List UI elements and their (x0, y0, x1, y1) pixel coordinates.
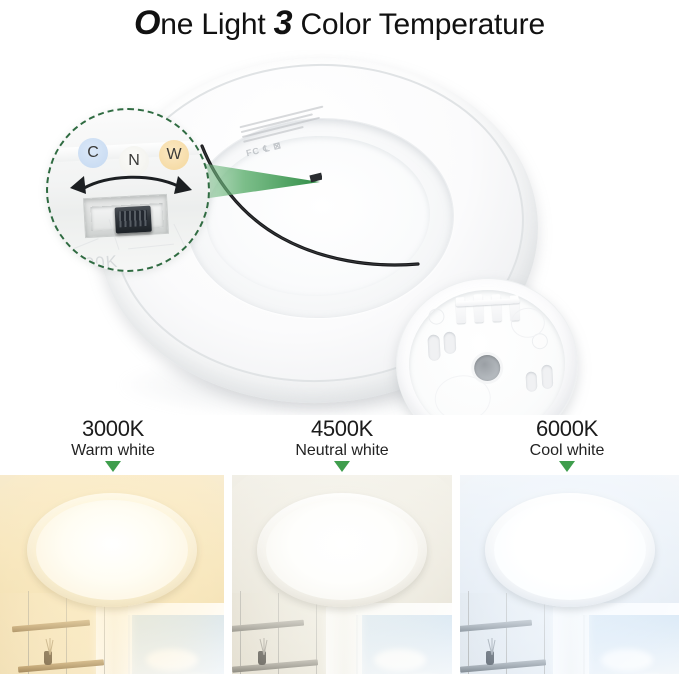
kelvin-value-4500k: 4500K (252, 416, 432, 441)
magnifier-callout: C N W (46, 108, 210, 272)
room-photo-strip (0, 475, 679, 674)
bracket-keyhole-slot (443, 332, 456, 355)
bracket-inner-face (405, 286, 569, 415)
kelvin-value-6000k: 6000K (477, 416, 657, 441)
cct-selector-switch-track (90, 203, 163, 231)
cct-dot-n-label: N (128, 152, 140, 170)
kelvin-value-3000k: 3000K (23, 416, 203, 441)
kelvin-name-neutral-white: Neutral white (252, 441, 432, 460)
temperature-label-3000k: 3000K Warm white (23, 416, 203, 472)
cct-selector-switch-knob[interactable] (115, 206, 152, 234)
bracket-keyhole-slot (525, 371, 537, 392)
bracket-keyhole-slot (427, 334, 440, 361)
lamp-etched-scale: 4500K 6 (54, 232, 210, 272)
window (128, 615, 224, 674)
room-scene (460, 475, 679, 674)
cct-dot-c: C (78, 138, 108, 168)
room-scene (232, 475, 452, 674)
double-arrow-icon (70, 172, 192, 198)
lamp-diffuser (36, 500, 188, 600)
temperature-label-4500k: 4500K Neutral white (252, 416, 432, 472)
ceiling-lamp (257, 493, 427, 607)
cct-dot-w: W (159, 140, 189, 170)
product-infographic: One Light 3 Color Temperature FC ℄ ⊠ (0, 0, 679, 674)
room-photo-cool-white (460, 475, 679, 674)
title-text-one-light: ne Light (160, 8, 273, 41)
marker-triangle-icon (105, 461, 121, 472)
kelvin-name-cool-white: Cool white (477, 441, 657, 460)
curtain (326, 607, 362, 674)
title-number-three: 3 (274, 4, 293, 42)
bracket-screw-boss (428, 308, 445, 325)
marker-triangle-icon (559, 461, 575, 472)
decor-stems-icon (40, 635, 60, 655)
cct-dot-w-label: W (166, 146, 181, 164)
temperature-labels: 3000K Warm white 4500K Neutral white 600… (0, 416, 679, 474)
window (356, 615, 452, 674)
window (583, 615, 679, 674)
lamp-diffuser (266, 500, 418, 600)
room-photo-neutral-white (232, 475, 452, 674)
ceiling-lamp (27, 493, 197, 607)
title-text-color-temperature: Color Temperature (292, 8, 545, 41)
cct-dot-c-label: C (87, 144, 99, 162)
bracket-tab (473, 294, 483, 322)
decor-stems-icon (254, 635, 274, 655)
product-stage: FC ℄ ⊠ (0, 50, 679, 415)
curtain (553, 607, 589, 674)
page-title: One Light 3 Color Temperature (0, 4, 679, 43)
room-photo-warm-white (0, 475, 224, 674)
title-letter-o: O (134, 4, 160, 42)
lamp-diffuser (494, 500, 646, 600)
bracket-keyhole-slot (541, 365, 553, 390)
etched-label-4500k: 4500K (63, 252, 119, 272)
temperature-label-6000k: 6000K Cool white (477, 416, 657, 472)
room-scene (0, 475, 224, 674)
kelvin-name-warm-white: Warm white (23, 441, 203, 460)
marker-triangle-icon (334, 461, 350, 472)
ceiling-lamp (485, 493, 655, 607)
decor-stems-icon (482, 635, 502, 655)
